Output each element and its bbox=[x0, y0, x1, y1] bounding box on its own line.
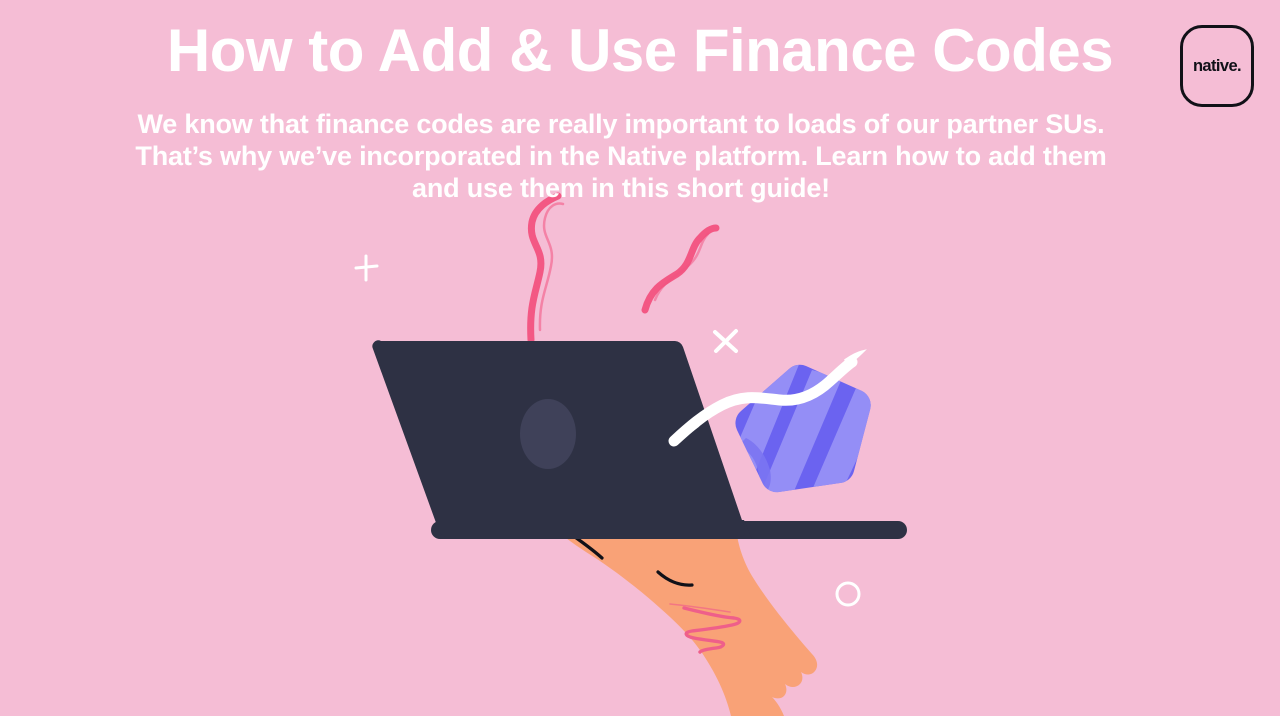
slide-canvas: How to Add & Use Finance Codes We know t… bbox=[0, 0, 1280, 716]
brand-logo-text: native. bbox=[1193, 58, 1241, 75]
page-title: How to Add & Use Finance Codes bbox=[0, 14, 1280, 88]
laptop-screen-highlight-ellipse bbox=[520, 399, 576, 469]
sparkle-star-large-icon bbox=[715, 331, 736, 351]
pentagon-badge bbox=[714, 362, 884, 512]
brand-logo: native. bbox=[1180, 25, 1254, 107]
page-subtitle: We know that finance codes are really im… bbox=[120, 108, 1122, 204]
pink-smoke-squiggle-right bbox=[645, 228, 716, 310]
pink-smoke-squiggle-left bbox=[531, 196, 563, 340]
laptop-screen bbox=[372, 340, 745, 537]
circle-outline-dot bbox=[837, 583, 859, 605]
sparkle-star-small-icon bbox=[356, 256, 377, 280]
hand-arm bbox=[556, 527, 817, 716]
